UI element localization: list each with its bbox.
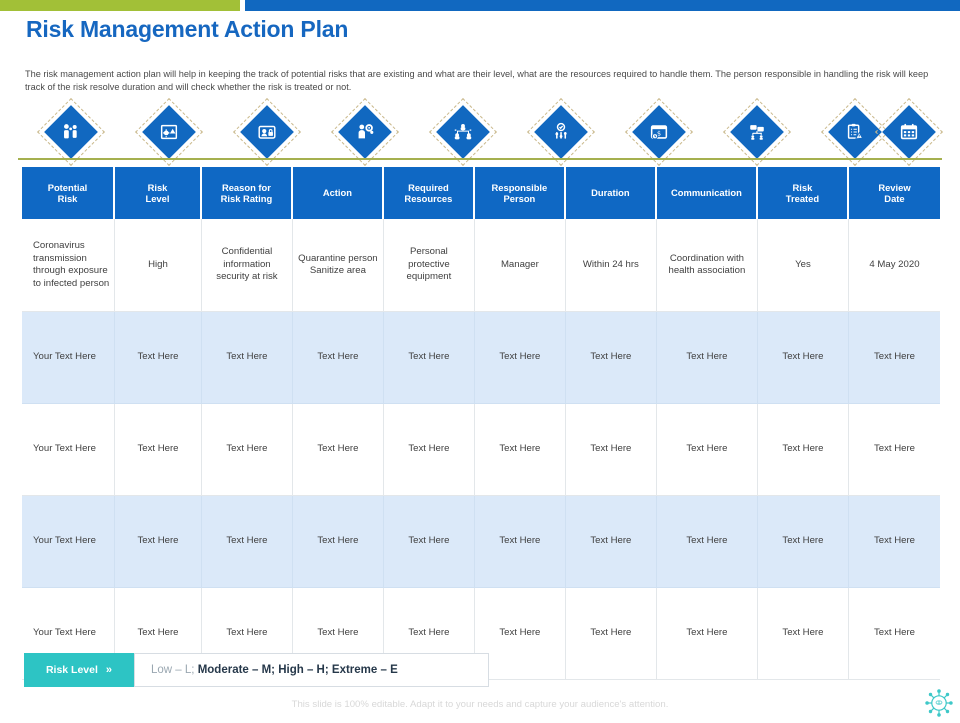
team-network-icon [437,106,489,158]
header-line: Risk Rating [221,193,273,204]
cell-action[interactable]: Quarantine person Sanitize area [293,219,384,312]
header-line: Responsible [492,182,548,193]
table-row[interactable]: Your Text Here Text Here Text Here Text … [22,404,940,496]
cell-review-date[interactable]: Text Here [849,588,940,680]
header-line: Date [884,193,904,204]
cell-communication[interactable]: Text Here [657,404,758,496]
calendar-money-icon: $ [633,106,685,158]
data-security-lock-icon [241,106,293,158]
cell-responsible-person[interactable]: Text Here [475,404,566,496]
header-line: Person [503,193,535,204]
header-line: Reason for [222,182,271,193]
risk-level-legend-box: Low – L; Moderate – M; High – H; Extreme… [134,653,489,687]
column-header-action[interactable]: Action [293,167,384,219]
cell-communication[interactable]: Text Here [657,496,758,588]
cell-review-date[interactable]: 4 May 2020 [849,219,940,312]
column-header-reason-for-risk-rating[interactable]: Reason for Risk Rating [202,167,293,219]
header-line: Duration [591,187,630,198]
cell-duration[interactable]: Text Here [566,496,657,588]
cell-risk-treated[interactable]: Text Here [758,496,849,588]
cell-review-date[interactable]: Text Here [849,496,940,588]
cell-risk-level[interactable]: Text Here [115,496,202,588]
legend-part-moderate: Moderate – M; [198,664,275,676]
header-line: Treated [786,193,819,204]
cell-risk-level[interactable]: High [115,219,202,312]
cell-reason-for-risk-rating[interactable]: Text Here [202,404,293,496]
header-line: Potential [48,182,88,193]
column-header-responsible-person[interactable]: Responsible Person [475,167,566,219]
cell-risk-treated[interactable]: Yes [758,219,849,312]
cell-potential-risk[interactable]: Your Text Here [22,312,115,404]
cell-required-resources[interactable]: Text Here [384,404,475,496]
column-header-duration[interactable]: Duration [566,167,657,219]
cell-risk-treated[interactable]: Text Here [758,312,849,404]
performance-gauge-icon [535,106,587,158]
column-header-review-date[interactable]: Review Date [849,167,940,219]
page-title: Risk Management Action Plan [26,16,348,43]
risk-action-plan-table: Potential Risk Risk Level Reason for Ris… [22,167,940,680]
header-line: Risk [58,193,78,204]
header-line: Level [145,193,169,204]
double-chevron-right-icon: » [106,664,112,676]
header-line: Review [878,182,910,193]
coronavirus-icon [922,688,956,718]
icon-strip: $ [25,106,935,158]
cell-communication[interactable]: Text Here [657,312,758,404]
column-header-required-resources[interactable]: Required Resources [384,167,475,219]
cell-action[interactable]: Text Here [293,404,384,496]
cell-risk-level[interactable]: Text Here [115,312,202,404]
cell-review-date[interactable]: Text Here [849,312,940,404]
cell-required-resources[interactable]: Text Here [384,312,475,404]
risk-level-badge[interactable]: Risk Level » [24,653,134,687]
cell-responsible-person[interactable]: Manager [475,219,566,312]
header-line: Risk [793,182,813,193]
column-header-risk-treated[interactable]: Risk Treated [758,167,849,219]
risk-level-badge-label: Risk Level [46,664,98,676]
table-header-row: Potential Risk Risk Level Reason for Ris… [22,167,940,219]
risk-level-legend: Risk Level » Low – L; Moderate – M; High… [24,653,489,687]
settings-warning-icon [143,106,195,158]
header-line: Required [408,182,449,193]
cell-action[interactable]: Text Here [293,312,384,404]
cell-communication[interactable]: Text Here [657,588,758,680]
legend-part-high: High – H; [278,664,328,676]
person-gear-icon [339,106,391,158]
header-line: Communication [671,187,742,198]
legend-part-extreme: Extreme – E [332,664,398,676]
column-header-potential-risk[interactable]: Potential Risk [22,167,115,219]
top-accent-bar [0,0,960,11]
cell-potential-risk[interactable]: Your Text Here [22,404,115,496]
intro-paragraph: The risk management action plan will hel… [25,68,935,93]
column-header-risk-level[interactable]: Risk Level [115,167,202,219]
calendar-icon [883,106,935,158]
cell-reason-for-risk-rating[interactable]: Confidential information security at ris… [202,219,293,312]
cell-duration[interactable]: Text Here [566,312,657,404]
cell-risk-treated[interactable]: Text Here [758,588,849,680]
cell-duration[interactable]: Within 24 hrs [566,219,657,312]
top-accent-green [0,0,240,11]
table-row[interactable]: Your Text Here Text Here Text Here Text … [22,312,940,404]
cell-risk-treated[interactable]: Text Here [758,404,849,496]
cell-responsible-person[interactable]: Text Here [475,312,566,404]
cell-duration[interactable]: Text Here [566,588,657,680]
table-row[interactable]: Coronavirus transmission through exposur… [22,219,940,312]
cell-action[interactable]: Text Here [293,496,384,588]
communication-hierarchy-icon [731,106,783,158]
cell-duration[interactable]: Text Here [566,404,657,496]
cell-communication[interactable]: Coordination with health association [657,219,758,312]
header-line: Action [323,187,352,198]
footer-note: This slide is 100% editable. Adapt it to… [0,699,960,710]
cell-required-resources[interactable]: Personal protective equipment [384,219,475,312]
column-header-communication[interactable]: Communication [657,167,758,219]
cell-potential-risk[interactable]: Coronavirus transmission through exposur… [22,219,115,312]
divider-rule [18,158,942,160]
checklist-warning-icon [829,106,881,158]
legend-part-low: Low – L; [151,664,194,676]
header-line: Risk [148,182,168,193]
cell-required-resources[interactable]: Text Here [384,496,475,588]
risk-assessment-icon [45,106,97,158]
cell-responsible-person[interactable]: Text Here [475,496,566,588]
table-row[interactable]: Your Text Here Text Here Text Here Text … [22,496,940,588]
cell-review-date[interactable]: Text Here [849,404,940,496]
header-line: Resources [404,193,452,204]
cell-reason-for-risk-rating[interactable]: Text Here [202,312,293,404]
cell-reason-for-risk-rating[interactable]: Text Here [202,496,293,588]
top-accent-blue [245,0,960,11]
cell-potential-risk[interactable]: Your Text Here [22,496,115,588]
cell-risk-level[interactable]: Text Here [115,404,202,496]
